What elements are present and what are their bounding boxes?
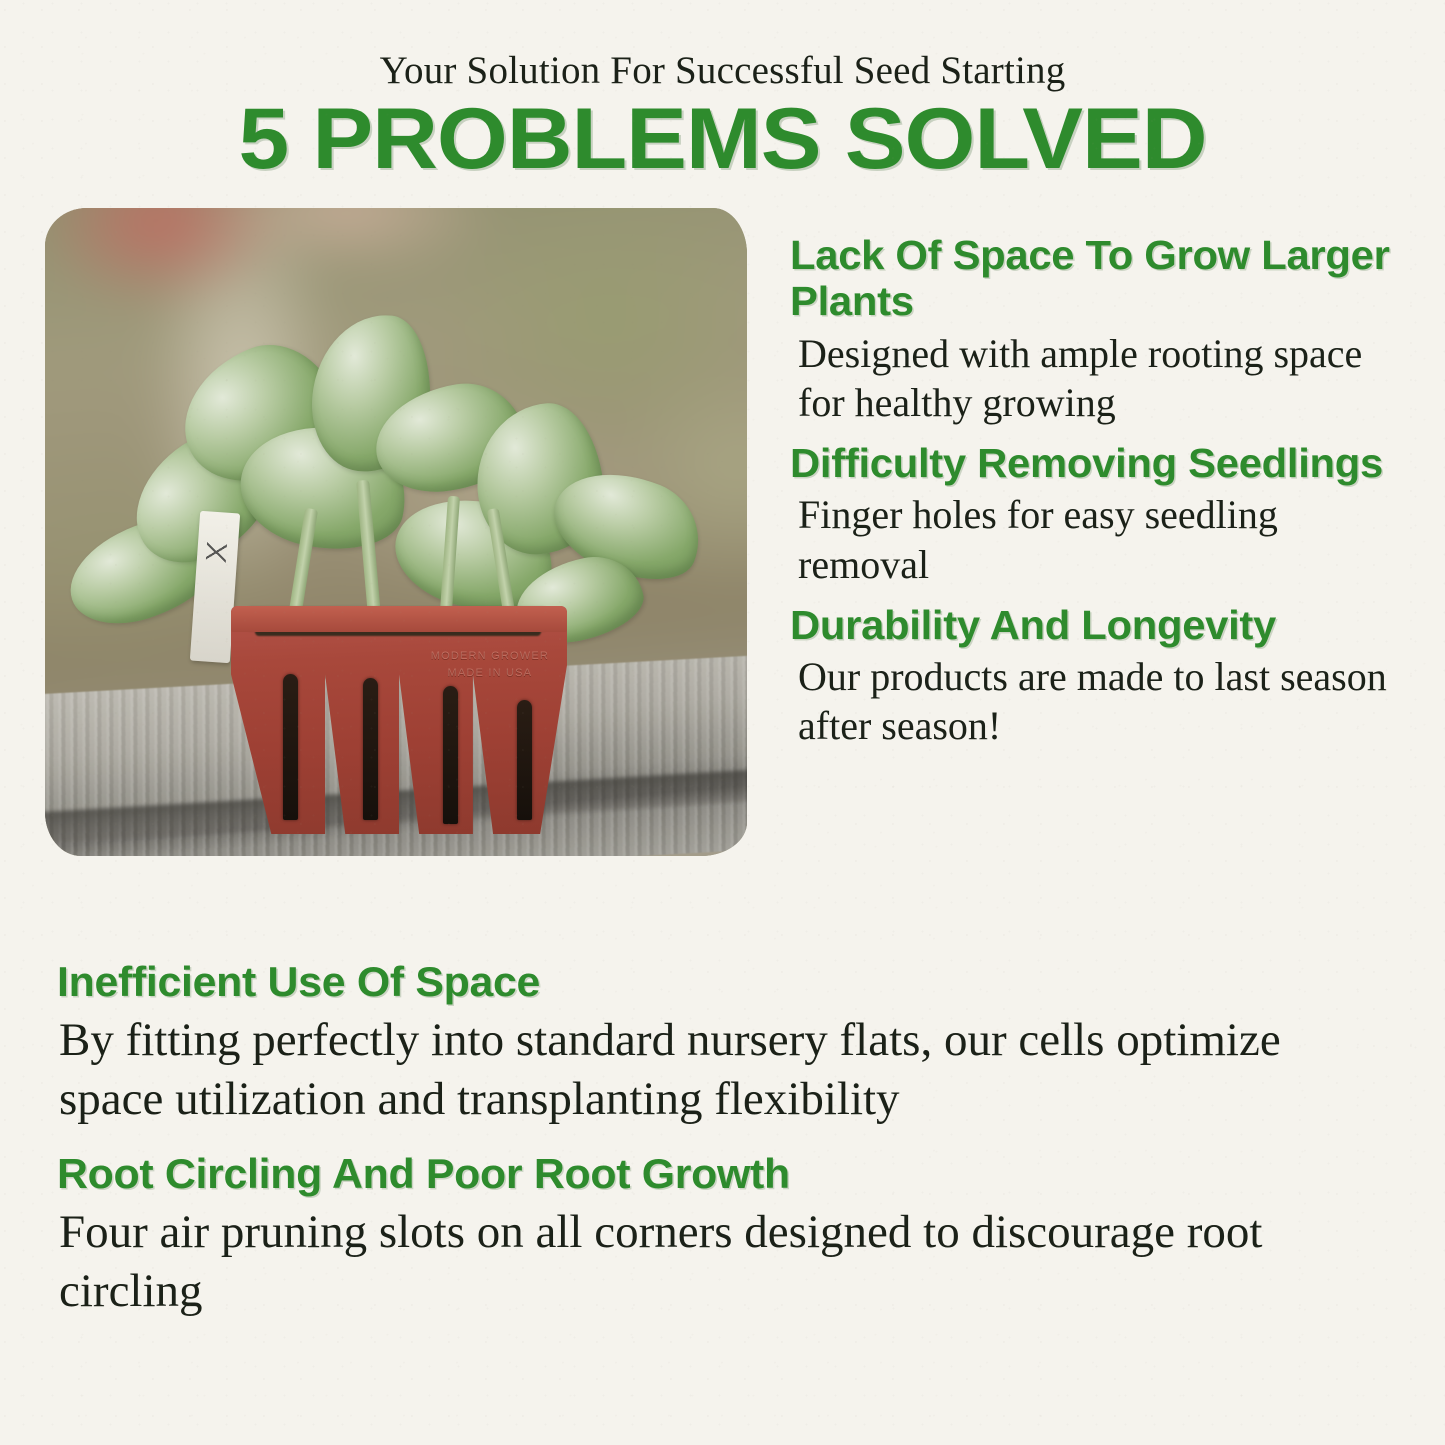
air-pruning-slot bbox=[363, 678, 378, 820]
features-right-column: Lack Of Space To Grow Larger Plants Desi… bbox=[790, 232, 1390, 750]
tray-brand-emboss: MODERN GROWER MADE IN USA bbox=[431, 648, 549, 681]
air-pruning-slot bbox=[443, 686, 458, 824]
feature-block: Lack Of Space To Grow Larger Plants Desi… bbox=[790, 232, 1390, 427]
air-pruning-slot bbox=[517, 700, 532, 820]
features-bottom-section: Inefficient Use Of Space By fitting perf… bbox=[57, 958, 1377, 1320]
page-title: 5 PROBLEMS SOLVED bbox=[0, 96, 1445, 182]
feature-heading: Root Circling And Poor Root Growth bbox=[57, 1150, 1403, 1197]
feature-heading: Lack Of Space To Grow Larger Plants bbox=[790, 232, 1402, 325]
feature-block: Root Circling And Poor Root Growth Four … bbox=[57, 1150, 1377, 1320]
product-photo: MODERN GROWER MADE IN USA bbox=[45, 208, 747, 856]
feature-description: Our products are made to last season aft… bbox=[798, 652, 1390, 750]
feature-block: Inefficient Use Of Space By fitting perf… bbox=[57, 958, 1377, 1128]
feature-description: Four air pruning slots on all corners de… bbox=[59, 1203, 1377, 1320]
feature-heading: Difficulty Removing Seedlings bbox=[790, 440, 1402, 486]
page-subtitle: Your Solution For Successful Seed Starti… bbox=[0, 48, 1445, 93]
tray-rim bbox=[231, 606, 567, 632]
feature-description: Finger holes for easy seedling removal bbox=[798, 490, 1390, 588]
tray-emboss-brand: MODERN GROWER bbox=[431, 648, 549, 665]
tray-emboss-origin: MADE IN USA bbox=[431, 665, 549, 682]
feature-block: Durability And Longevity Our products ar… bbox=[790, 602, 1390, 751]
infographic-page: Your Solution For Successful Seed Starti… bbox=[0, 0, 1445, 1445]
seed-starting-tray: MODERN GROWER MADE IN USA bbox=[231, 606, 567, 834]
air-pruning-slot bbox=[283, 674, 298, 820]
feature-heading: Inefficient Use Of Space bbox=[57, 958, 1403, 1005]
product-photo-frame: MODERN GROWER MADE IN USA bbox=[45, 208, 747, 856]
feature-description: By fitting perfectly into standard nurse… bbox=[59, 1011, 1377, 1128]
feature-description: Designed with ample rooting space for he… bbox=[798, 329, 1390, 427]
feature-block: Difficulty Removing Seedlings Finger hol… bbox=[790, 440, 1390, 589]
feature-heading: Durability And Longevity bbox=[790, 602, 1402, 648]
